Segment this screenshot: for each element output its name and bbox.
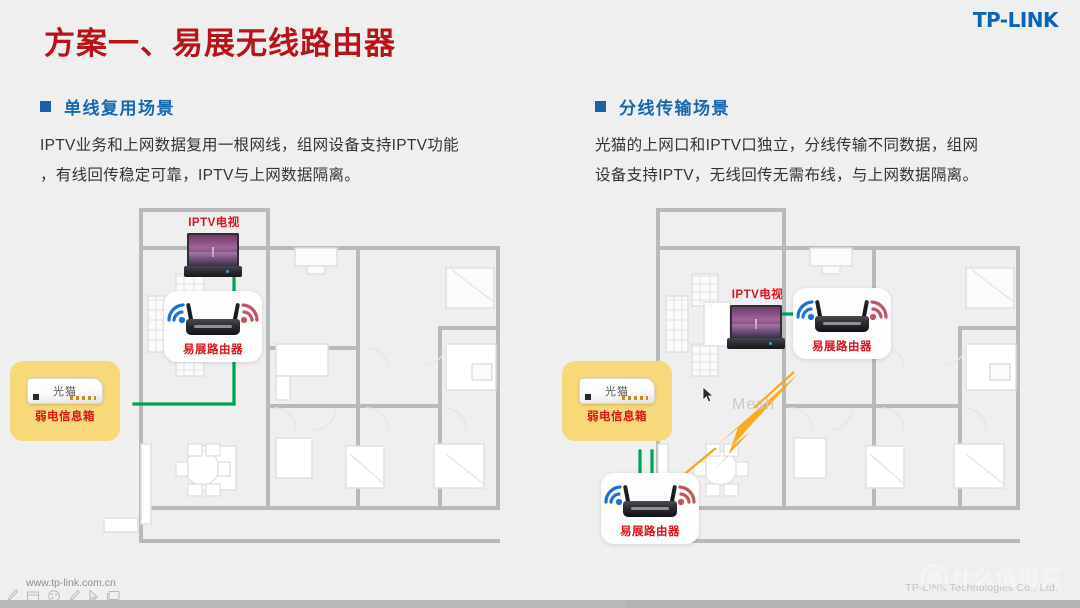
bottom-progress-fill xyxy=(0,600,626,608)
bottom-progress-bar[interactable] xyxy=(0,600,1080,608)
wifi-wave-red-icon xyxy=(239,299,265,327)
floorplan-right: IPTV电视 xyxy=(588,196,1068,546)
modem-label-left: 光猫 xyxy=(53,383,77,399)
wifi-wave-blue-icon xyxy=(161,299,187,327)
device-tv-left: IPTV电视 xyxy=(186,214,242,277)
column-left-heading: 单线复用场景 xyxy=(40,94,560,119)
tv-screen-icon xyxy=(187,233,239,266)
column-right-heading: 分线传输场景 xyxy=(595,94,1065,119)
wifi-wave-red-icon xyxy=(676,481,702,509)
column-right-body-line1: 光猫的上网口和IPTV口独立，分线传输不同数据，组网 xyxy=(595,131,1065,161)
router-body-icon xyxy=(623,501,677,517)
column-right: 分线传输场景 光猫的上网口和IPTV口独立，分线传输不同数据，组网 设备支持IP… xyxy=(595,94,1065,191)
device-router-top-right: 易展路由器 xyxy=(793,288,891,359)
router-graphic-top-right xyxy=(803,296,881,336)
device-router-bottom-right: 易展路由器 xyxy=(601,473,699,544)
modem-label-right: 光猫 xyxy=(605,383,629,399)
bullet-square-icon xyxy=(40,101,51,112)
page-title: 方案一、易展无线路由器 xyxy=(44,18,396,63)
device-weakbox-right: 光猫 弱电信息箱 xyxy=(562,361,672,441)
mouse-cursor-icon xyxy=(702,386,715,404)
router-body-icon xyxy=(815,316,869,332)
tv-base-icon xyxy=(727,338,785,349)
wifi-wave-red-icon xyxy=(868,296,894,324)
modem-graphic-left: 光猫 xyxy=(27,378,103,404)
wifi-wave-blue-icon xyxy=(790,296,816,324)
column-right-heading-text: 分线传输场景 xyxy=(619,94,730,119)
bullet-square-icon xyxy=(595,101,606,112)
tp-link-logo-text: TP-LINK xyxy=(973,8,1058,32)
column-left-body: IPTV业务和上网数据复用一根网线，组网设备支持IPTV功能 ，有线回传稳定可靠… xyxy=(40,131,560,191)
device-weakbox-left: 光猫 弱电信息箱 xyxy=(10,361,120,441)
column-left-body-line1: IPTV业务和上网数据复用一根网线，组网设备支持IPTV功能 xyxy=(40,131,560,161)
tv-graphic-left xyxy=(187,233,242,277)
wifi-wave-blue-icon xyxy=(598,481,624,509)
router-body-icon xyxy=(186,319,240,335)
column-left: 单线复用场景 IPTV业务和上网数据复用一根网线，组网设备支持IPTV功能 ，有… xyxy=(40,94,560,191)
weakbox-label-left: 弱电信息箱 xyxy=(35,408,95,424)
tv-label-left: IPTV电视 xyxy=(186,214,242,230)
weakbox-left: 光猫 弱电信息箱 xyxy=(10,361,120,441)
modem-graphic-right: 光猫 xyxy=(579,378,655,404)
slide-canvas: TP-LINK 方案一、易展无线路由器 单线复用场景 IPTV业务和上网数据复用… xyxy=(0,0,1080,608)
router-card-top-right: 易展路由器 xyxy=(793,288,891,359)
column-left-body-line2: ，有线回传稳定可靠，IPTV与上网数据隔离。 xyxy=(40,161,560,191)
router-card-bottom-right: 易展路由器 xyxy=(601,473,699,544)
mesh-label: Mesh xyxy=(732,396,775,414)
footer-copyright: TP-LINK Technologies Co., Ltd. xyxy=(905,582,1058,594)
router-label-bottom-right: 易展路由器 xyxy=(620,523,680,539)
tv-label-right: IPTV电视 xyxy=(730,286,785,302)
router-label-top-right: 易展路由器 xyxy=(812,338,872,354)
column-left-heading-text: 单线复用场景 xyxy=(64,94,175,119)
router-graphic-left xyxy=(174,299,252,339)
router-graphic-bottom-right xyxy=(611,481,689,521)
floorplan-left: IPTV电视 xyxy=(36,196,536,546)
column-right-body: 光猫的上网口和IPTV口独立，分线传输不同数据，组网 设备支持IPTV，无线回传… xyxy=(595,131,1065,191)
tv-graphic-right xyxy=(730,305,785,349)
weakbox-right: 光猫 弱电信息箱 xyxy=(562,361,672,441)
weakbox-label-right: 弱电信息箱 xyxy=(587,408,647,424)
router-label-left: 易展路由器 xyxy=(183,341,243,357)
column-right-body-line2: 设备支持IPTV，无线回传无需布线，与上网数据隔离。 xyxy=(595,161,1065,191)
tp-link-logo: TP-LINK xyxy=(973,8,1058,32)
tv-screen-icon xyxy=(730,305,782,338)
device-tv-right: IPTV电视 xyxy=(730,286,785,349)
device-router-left: 易展路由器 xyxy=(164,291,262,362)
router-card-left: 易展路由器 xyxy=(164,291,262,362)
tv-base-icon xyxy=(184,266,242,277)
